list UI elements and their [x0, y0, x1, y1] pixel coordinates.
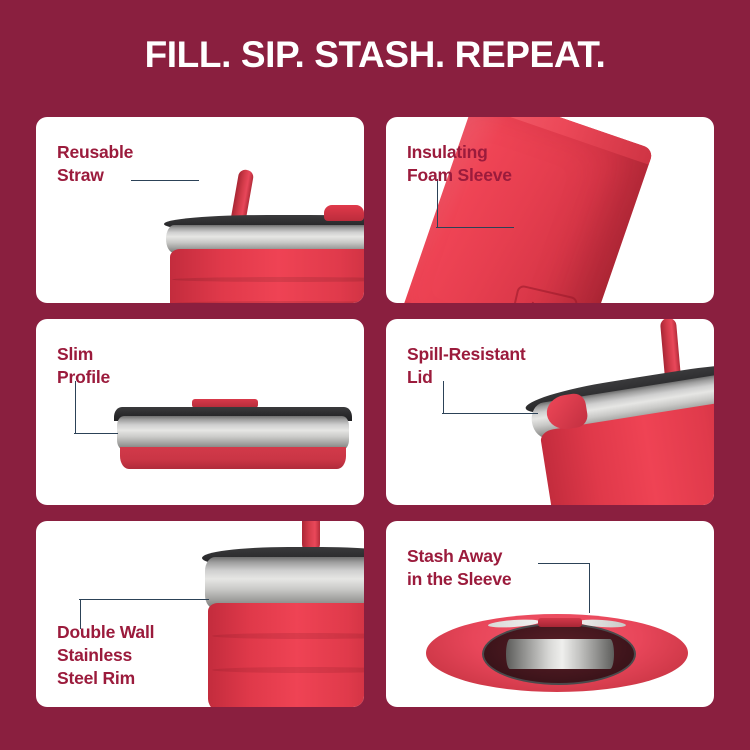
feature-label-slim-profile: Slim Profile: [57, 343, 110, 389]
leader-line-lid-horizontal: [442, 413, 538, 414]
feature-label-insulating-foam-sleeve: Insulating Foam Sleeve: [407, 141, 512, 187]
feature-label-spill-resistant-lid: Spill-Resistant Lid: [407, 343, 526, 389]
angled-cup-graphic: [508, 319, 714, 505]
feature-card-reusable-straw[interactable]: Reusable Straw: [36, 117, 364, 303]
sleeve-crease-2: [172, 301, 364, 303]
feature-card-double-wall-rim[interactable]: Double Wall Stainless Steel Rim: [36, 521, 364, 707]
product-feature-poster: FILL. SIP. STASH. REPEAT. Reusable Straw: [0, 0, 750, 750]
cup-closeup-graphic: [202, 533, 364, 707]
feature-card-stash-away-sleeve[interactable]: Stash Away in the Sleeve: [386, 521, 714, 707]
steel-disc-shape: [506, 639, 614, 669]
feature-label-double-wall-rim: Double Wall Stainless Steel Rim: [57, 621, 154, 689]
steel-band-shape: [205, 557, 364, 609]
sleeve-base-shape: [120, 447, 346, 469]
lid-tab-shape: [538, 618, 582, 627]
sleeve-ring-graphic: [426, 614, 688, 692]
sleeve-body-shape: [170, 249, 364, 303]
steel-band-shape: [117, 416, 349, 450]
leader-line-sleeve-horizontal: [436, 227, 514, 228]
hydaway-logo-badge: HYD AWAY: [508, 284, 579, 303]
collapsed-cup-graphic: [114, 407, 352, 469]
feature-card-grid: Reusable Straw HYD AWAY Insulating Foam …: [36, 117, 714, 707]
cup-graphic: [164, 179, 364, 303]
leader-line-straw: [131, 180, 199, 181]
sleeve-body-shape: [208, 603, 364, 707]
logo-text-line1: HYD: [529, 300, 560, 303]
lid-tab-shape: [324, 205, 364, 221]
feature-card-spill-resistant-lid[interactable]: Spill-Resistant Lid: [386, 319, 714, 505]
page-title: FILL. SIP. STASH. REPEAT.: [0, 34, 750, 76]
leader-line-stash-horizontal: [538, 563, 590, 564]
leader-line-slim-horizontal: [74, 433, 118, 434]
leader-line-rim-horizontal: [79, 599, 209, 600]
leader-line-slim-vertical: [75, 381, 76, 433]
sleeve-cavity-shape: [482, 623, 636, 685]
feature-label-reusable-straw: Reusable Straw: [57, 141, 133, 187]
feature-card-slim-profile[interactable]: Slim Profile: [36, 319, 364, 505]
feature-card-insulating-foam-sleeve[interactable]: HYD AWAY Insulating Foam Sleeve: [386, 117, 714, 303]
feature-label-stash-away-sleeve: Stash Away in the Sleeve: [407, 545, 511, 591]
leader-line-stash-vertical: [589, 563, 590, 613]
